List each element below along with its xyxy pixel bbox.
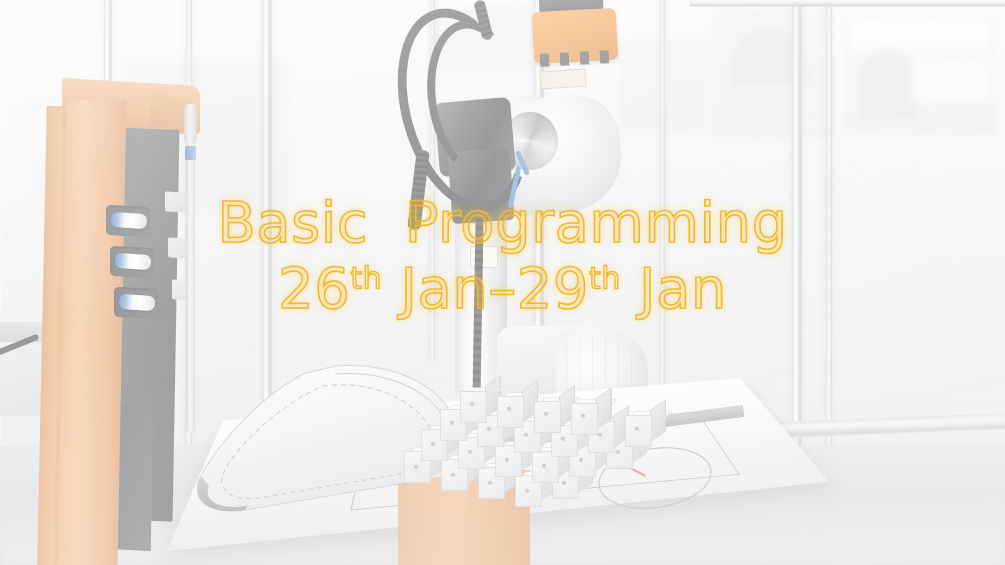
cube bbox=[625, 404, 659, 438]
tool-item-3 bbox=[119, 294, 156, 311]
panel-bracket-2 bbox=[168, 237, 188, 258]
presentation-slide: Basic Programming 26th Jan–29th Jan bbox=[0, 0, 1005, 565]
glass-pane-5 bbox=[802, 0, 1005, 470]
tool-item-1 bbox=[111, 212, 148, 229]
cube bbox=[460, 380, 494, 414]
cube bbox=[497, 385, 531, 419]
rod-indicator bbox=[185, 146, 196, 160]
frame-rail-top bbox=[690, 0, 1005, 7]
frame-post-6 bbox=[660, 0, 665, 400]
operator-station-front-column bbox=[58, 100, 127, 565]
cube bbox=[571, 392, 605, 426]
tool-item-2 bbox=[115, 253, 152, 270]
panel-bracket-1 bbox=[165, 191, 185, 212]
background-photo bbox=[0, 0, 1005, 565]
cube bbox=[534, 390, 568, 424]
robot-brand-sticker bbox=[539, 68, 586, 89]
rod-cap bbox=[184, 104, 197, 144]
